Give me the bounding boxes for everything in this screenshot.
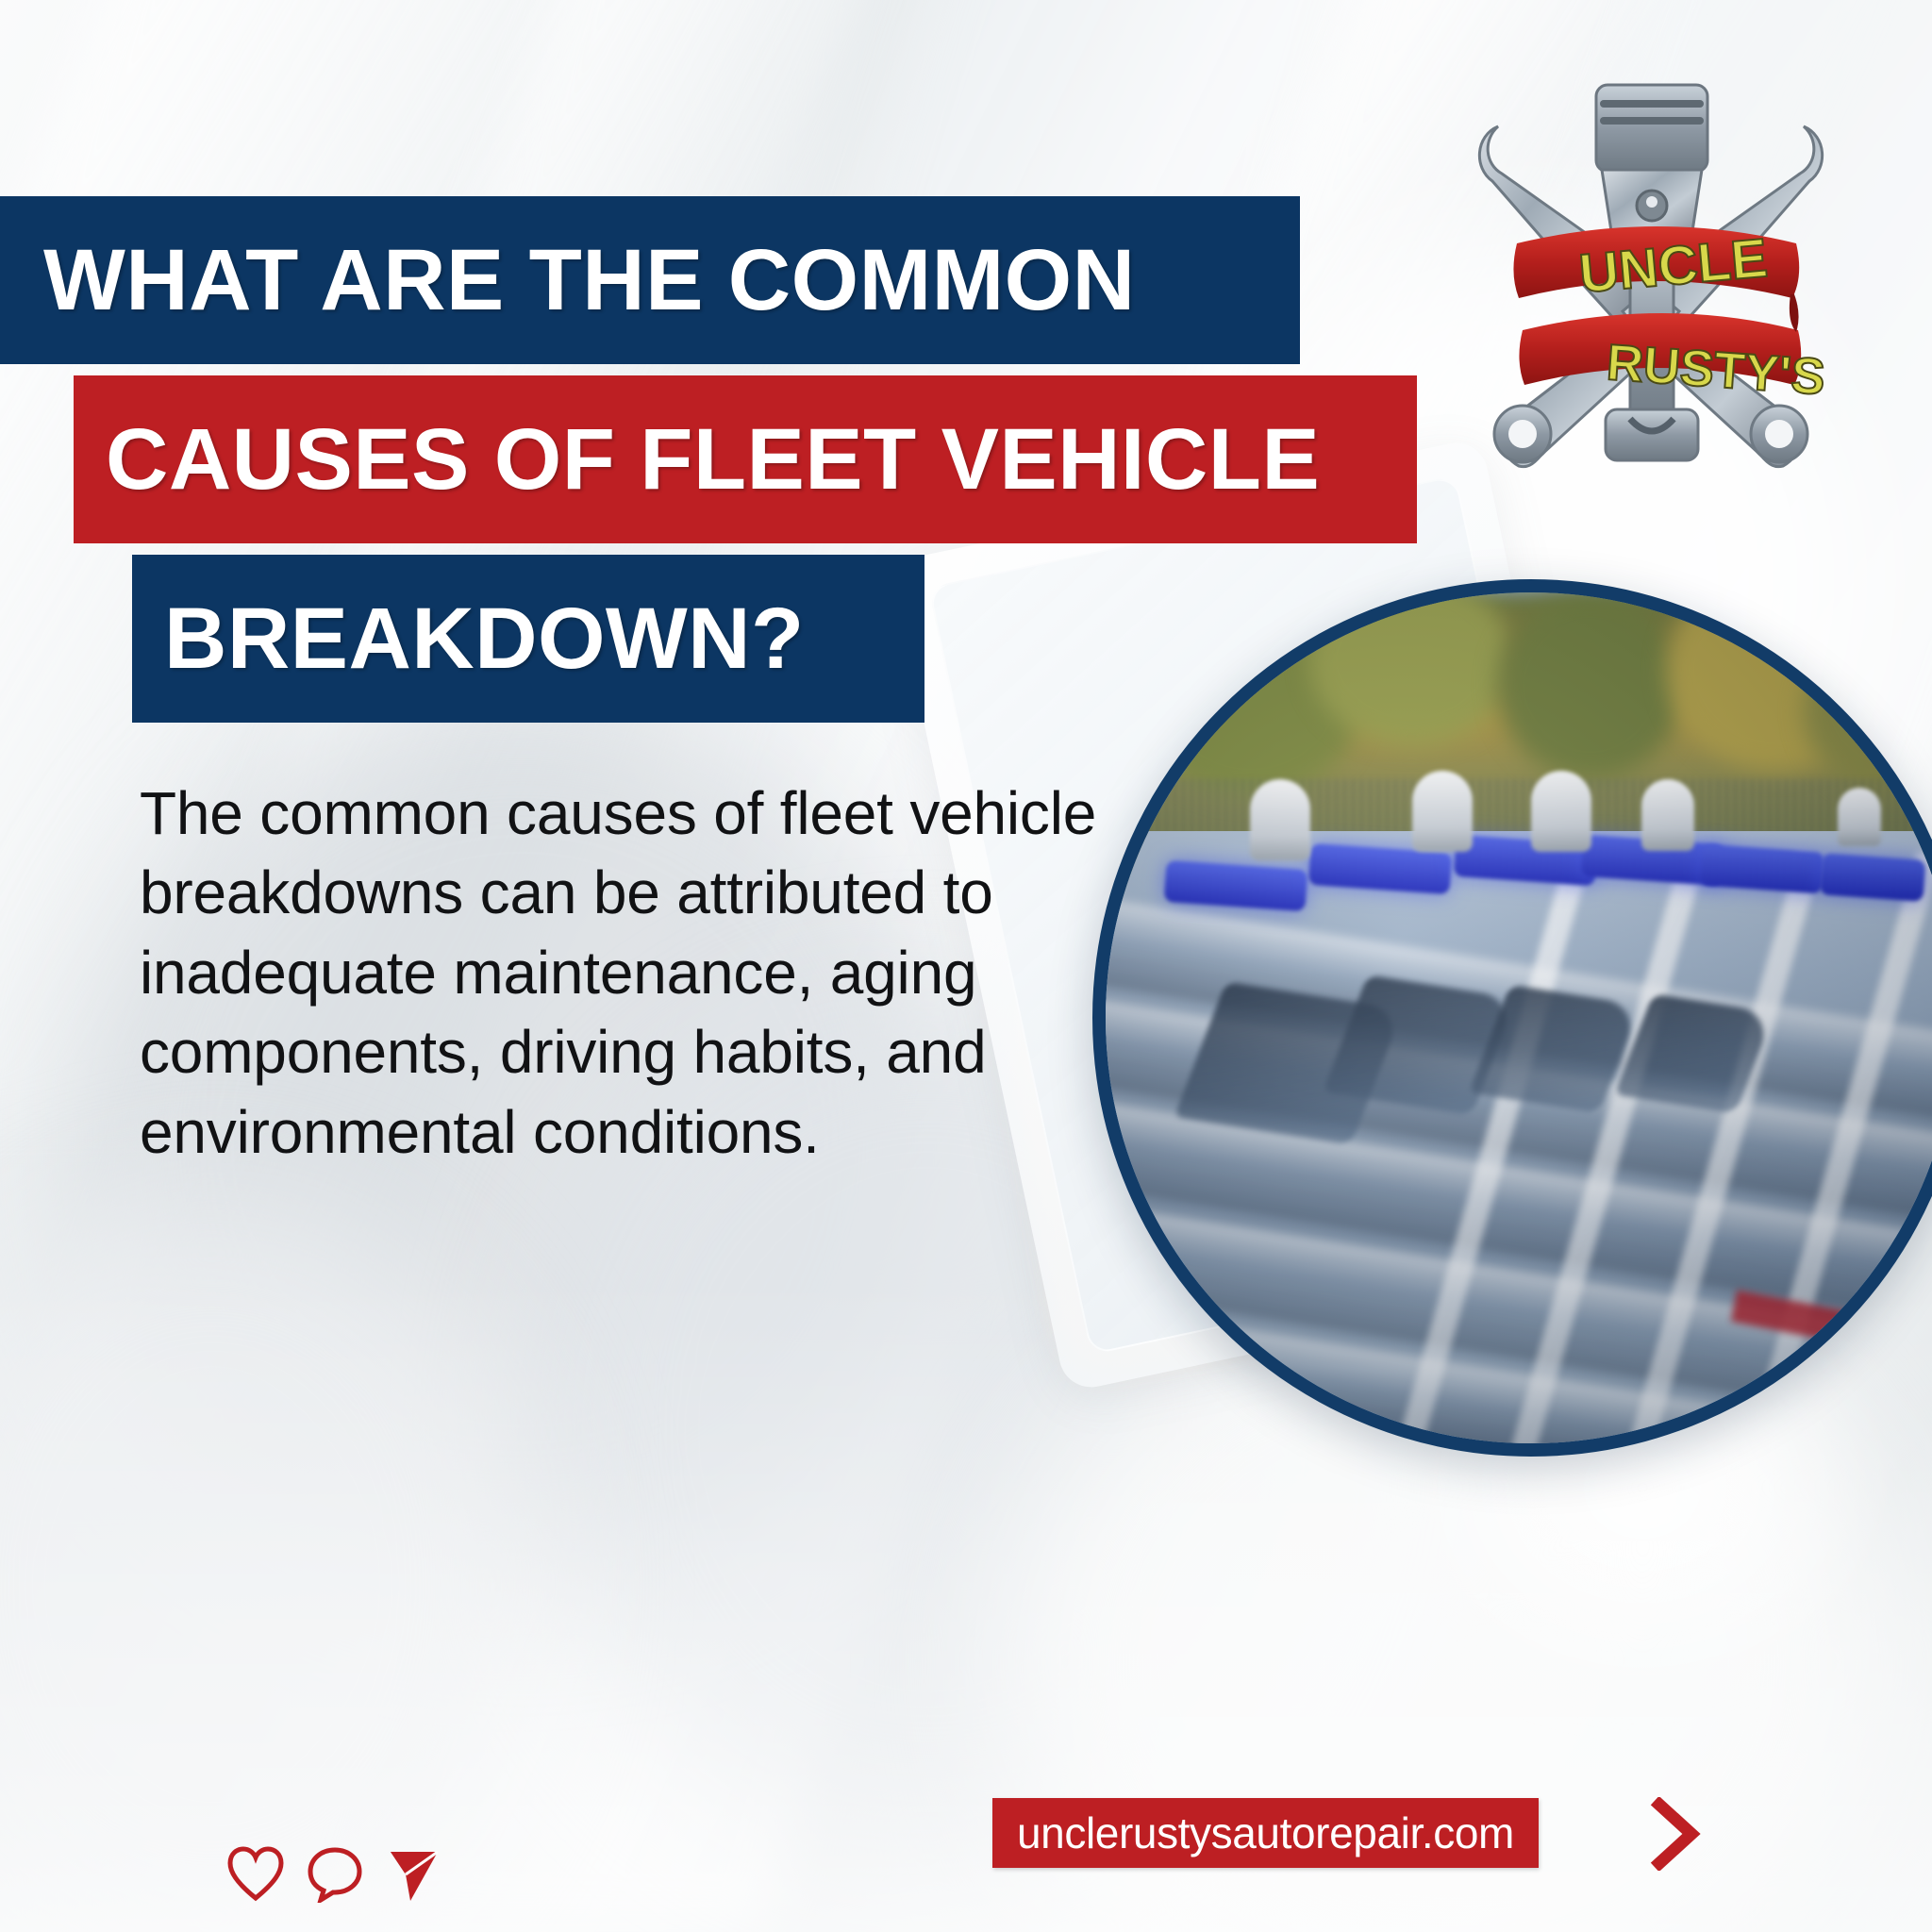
fleet-vehicles-photo [1092, 579, 1932, 1457]
share-icon[interactable] [385, 1844, 443, 1905]
social-actions [226, 1844, 443, 1905]
heart-icon[interactable] [226, 1846, 285, 1903]
headline-line-3: BREAKDOWN? [132, 555, 924, 723]
body-paragraph: The common causes of fleet vehicle break… [140, 774, 1102, 1172]
website-url-chip[interactable]: unclerustysautorepair.com [992, 1798, 1539, 1868]
headline-line-1: WHAT ARE THE COMMON [0, 196, 1300, 364]
headline-line-2: CAUSES OF FLEET VEHICLE [74, 375, 1417, 543]
website-url-text: unclerustysautorepair.com [1017, 1807, 1514, 1858]
comment-icon[interactable] [306, 1846, 364, 1903]
chevron-right-icon[interactable] [1646, 1797, 1712, 1871]
social-post-canvas: UNCLE RUSTY'S WHAT ARE THE COMMON CAUSES… [0, 0, 1932, 1932]
uncle-rustys-logo: UNCLE RUSTY'S [1464, 58, 1838, 474]
